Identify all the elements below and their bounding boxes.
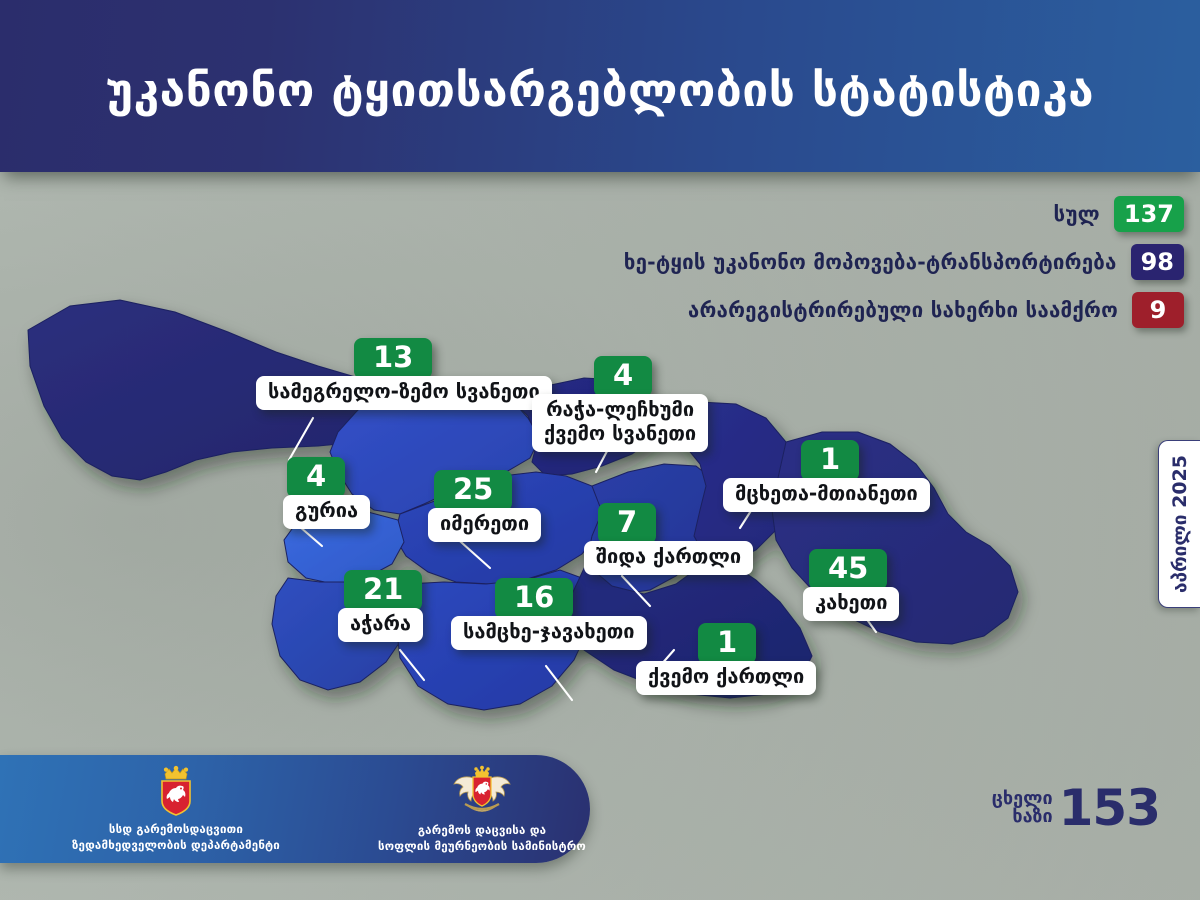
map-callout-label-samegrelo: სამეგრელო-ზემო სვანეთი <box>256 376 552 410</box>
map-callout-guria[interactable]: 4 გურია <box>283 457 370 529</box>
map-callout-label-racha: რაჭა-ლეჩხუმი ქვემო სვანეთი <box>532 394 708 451</box>
legend-chip-unregistered-sawmill: 9 <box>1132 292 1184 328</box>
map-callout-samtskhe-javakheti[interactable]: 16 სამცხე-ჯავახეთი <box>451 578 647 650</box>
map-callout-kvemo-kartli[interactable]: 1 ქვემო ქართლი <box>636 623 816 695</box>
org-ministry-label: გარემოს დაცვისა და სოფლის მეურნეობის სამ… <box>378 823 586 854</box>
page-title: უკანონო ტყითსარგებლობის სტატისტიკა <box>106 58 1094 115</box>
hotline: ცხელი ხაზი 153 <box>992 786 1160 830</box>
legend-row-unregistered-sawmill: არარეგისტრირებული სახერხი საამქრო 9 <box>688 292 1184 328</box>
map-callout-value-kvemo-kartli: 1 <box>698 623 756 664</box>
legend-label-total: სულ <box>1053 202 1099 226</box>
map-callout-samegrelo[interactable]: 13 სამეგრელო-ზემო სვანეთი <box>256 338 552 410</box>
date-tab: აპრილი 2025 <box>1158 440 1200 608</box>
map-callout-label-imereti: იმერეთი <box>428 508 541 542</box>
georgia-coat-of-arms-icon <box>451 764 513 818</box>
map-callout-label-kvemo-kartli: ქვემო ქართლი <box>636 661 816 695</box>
hotline-label: ცხელი ხაზი <box>992 790 1053 827</box>
legend-label-unregistered-sawmill: არარეგისტრირებული სახერხი საამქრო <box>688 298 1118 322</box>
map-callout-value-shida-kartli: 7 <box>598 503 656 544</box>
map-callout-imereti[interactable]: 25 იმერეთი <box>428 470 541 542</box>
legend-label-logging-transport: ხე-ტყის უკანონო მოპოვება-ტრანსპორტირება <box>624 250 1117 274</box>
map-callout-value-imereti: 25 <box>434 470 512 511</box>
map-callout-value-kakheti: 45 <box>809 549 887 590</box>
legend-row-logging-transport: ხე-ტყის უკანონო მოპოვება-ტრანსპორტირება … <box>624 244 1184 280</box>
org-department-label: სსდ გარემოსდაცვითი ზედამხედველობის დეპარ… <box>72 822 280 853</box>
map-callout-label-kakheti: კახეთი <box>803 587 899 621</box>
map-callout-adjara[interactable]: 21 აჭარა <box>338 570 423 642</box>
tbilisi-crest-icon <box>153 765 199 817</box>
map-callout-kakheti[interactable]: 45 კახეთი <box>803 549 899 621</box>
map-callout-shida-kartli[interactable]: 7 შიდა ქართლი <box>584 503 753 575</box>
map-callout-label-guria: გურია <box>283 495 370 529</box>
map-callout-mtskheta[interactable]: 1 მცხეთა-მთიანეთი <box>723 440 930 512</box>
map-callout-value-racha: 4 <box>594 356 652 397</box>
legend-chip-logging-transport: 98 <box>1131 244 1184 280</box>
map-callout-value-mtskheta: 1 <box>801 440 859 481</box>
org-department: სსდ გარემოსდაცვითი ზედამხედველობის დეპარ… <box>72 765 280 853</box>
map-callout-racha[interactable]: 4 რაჭა-ლეჩხუმი ქვემო სვანეთი <box>532 356 708 452</box>
map-callout-value-adjara: 21 <box>344 570 422 611</box>
map-callout-label-samtskhe-javakheti: სამცხე-ჯავახეთი <box>451 616 647 650</box>
footer-bar: სსდ გარემოსდაცვითი ზედამხედველობის დეპარ… <box>0 755 590 863</box>
header-banner: უკანონო ტყითსარგებლობის სტატისტიკა <box>0 0 1200 172</box>
map-callout-label-mtskheta: მცხეთა-მთიანეთი <box>723 478 930 512</box>
legend-chip-total: 137 <box>1114 196 1184 232</box>
map-callout-value-samegrelo: 13 <box>354 338 432 379</box>
map-callout-label-adjara: აჭარა <box>338 608 423 642</box>
legend: სულ 137 ხე-ტყის უკანონო მოპოვება-ტრანსპო… <box>444 196 1184 328</box>
map-callout-label-shida-kartli: შიდა ქართლი <box>584 541 753 575</box>
map-callout-value-guria: 4 <box>287 457 345 498</box>
map-callout-value-samtskhe-javakheti: 16 <box>495 578 573 619</box>
date-label: აპრილი 2025 <box>1169 455 1191 593</box>
legend-row-total: სულ 137 <box>1053 196 1184 232</box>
org-ministry: გარემოს დაცვისა და სოფლის მეურნეობის სამ… <box>378 764 586 854</box>
hotline-number: 153 <box>1059 786 1160 830</box>
